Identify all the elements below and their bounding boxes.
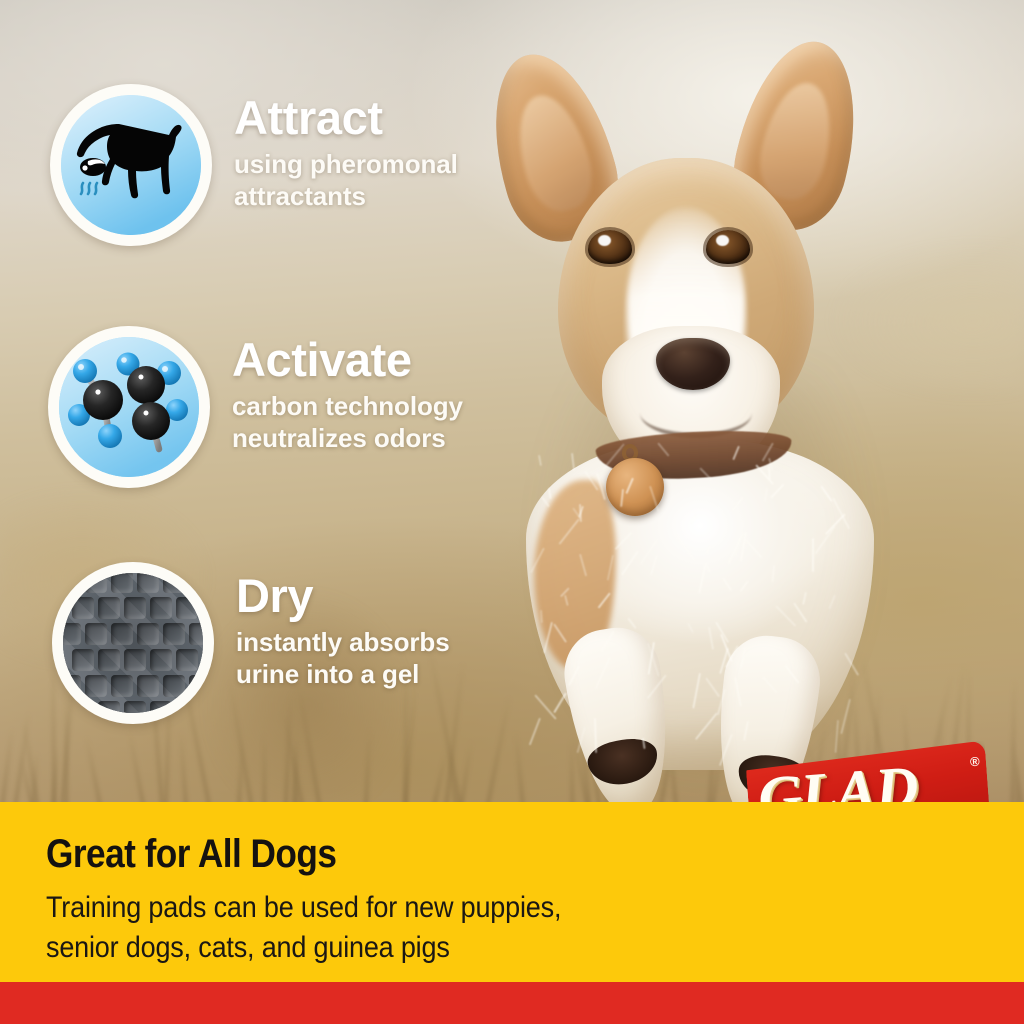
feature-activate-subtitle-line2: neutralizes odors xyxy=(232,423,446,453)
feature-dry-title: Dry xyxy=(236,572,450,619)
dog-sniffing-icon xyxy=(61,95,201,235)
footer-headline: Great for All Dogs xyxy=(46,832,336,877)
feature-attract-title: Attract xyxy=(234,94,458,141)
feature-activate-subtitle: carbon technology neutralizes odors xyxy=(232,391,463,454)
feature-attract-subtitle-line2: attractants xyxy=(234,181,366,211)
feature-activate-title: Activate xyxy=(232,336,463,383)
feature-activate-icon-ring xyxy=(48,326,210,488)
dog-left-eye xyxy=(588,230,632,264)
dog-photo-subject xyxy=(470,40,940,780)
feature-dry-subtitle-line1: instantly absorbs xyxy=(236,627,450,657)
feature-attract-text: Attract using pheromonal attractants xyxy=(234,84,458,212)
feature-activate-text: Activate carbon technology neutralizes o… xyxy=(232,326,463,454)
feature-attract-subtitle: using pheromonal attractants xyxy=(234,149,458,212)
footer-red-accent-bar xyxy=(0,982,1024,1024)
dog-right-eye xyxy=(706,230,750,264)
footer-yellow-band: Great for All Dogs Training pads can be … xyxy=(0,802,1024,982)
feature-attract-icon-ring xyxy=(50,84,212,246)
feature-dry: Dry instantly absorbs urine into a gel xyxy=(52,562,450,724)
molecule-graphic xyxy=(59,337,199,477)
feature-dry-icon-ring xyxy=(52,562,214,724)
feature-activate-subtitle-line1: carbon technology xyxy=(232,391,463,421)
feature-attract: Attract using pheromonal attractants xyxy=(50,84,458,246)
registered-trademark-icon: ® xyxy=(969,754,980,770)
feature-activate: Activate carbon technology neutralizes o… xyxy=(48,326,463,488)
footer-body-text: Training pads can be used for new puppie… xyxy=(46,888,676,967)
feature-attract-subtitle-line1: using pheromonal xyxy=(234,149,458,179)
carbon-molecule-icon xyxy=(59,337,199,477)
product-feature-advertisement: Attract using pheromonal attractants xyxy=(0,0,1024,1024)
dog-silhouette-graphic xyxy=(61,95,201,235)
feature-list: Attract using pheromonal attractants xyxy=(0,0,520,800)
quilted-pad-texture-icon xyxy=(63,573,203,713)
feature-dry-subtitle: instantly absorbs urine into a gel xyxy=(236,627,450,690)
feature-dry-subtitle-line2: urine into a gel xyxy=(236,659,419,689)
footer-body-line2: senior dogs, cats, and guinea pigs xyxy=(46,931,450,964)
feature-dry-text: Dry instantly absorbs urine into a gel xyxy=(236,562,450,690)
footer-body-line1: Training pads can be used for new puppie… xyxy=(46,891,561,924)
